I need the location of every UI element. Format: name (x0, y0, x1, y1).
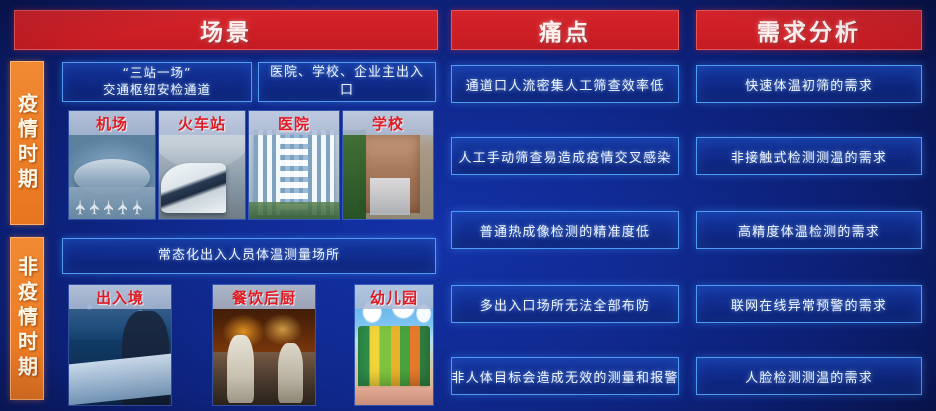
pain-point-item-5-label: 非人体目标会造成无效的测量和报警 (451, 367, 678, 386)
photo-railway-station: 火车站 (158, 110, 246, 220)
photo-school: 学校 (342, 110, 434, 220)
period-tab-non-epidemic: 非疫情时期 (10, 237, 44, 400)
pain-point-item-1: 通道口人流密集人工筛查效率低 (451, 65, 679, 103)
scene-box-main-entrance: 医院、学校、企业主出入口 (258, 62, 436, 102)
header-scene-label: 场景 (200, 13, 252, 47)
period-tab-epidemic: 疫情时期 (10, 61, 44, 225)
photo-kindergarten-caption: 幼儿园 (355, 285, 433, 309)
airplane-icon-group (72, 187, 151, 215)
scene-box-routine-temperature-label: 常态化出入人员体温测量场所 (152, 247, 346, 265)
pain-point-item-3: 普通热成像检测的精准度低 (451, 211, 679, 249)
demand-item-5: 人脸检测测温的需求 (696, 357, 922, 395)
photo-school-caption: 学校 (343, 111, 433, 135)
photo-strip-epidemic: 机场 火车站 医院 学校 (68, 110, 434, 220)
demand-item-3: 高精度体温检测的需求 (696, 211, 922, 249)
photo-railway-station-caption-label: 火车站 (178, 113, 226, 134)
demand-item-2-label: 非接触式检测测温的需求 (731, 147, 887, 166)
photo-kindergarten: 幼儿园 (354, 284, 434, 406)
photo-hospital: 医院 (248, 110, 340, 220)
chef-figure-left (227, 335, 254, 402)
photo-border-control: 出入境 (68, 284, 172, 406)
hospital-foliage (249, 202, 339, 219)
slide-canvas: 场景 痛点 需求分析 疫情时期 非疫情时期 “三站一场” 交通枢纽安检通道 医院… (0, 0, 936, 411)
demand-item-5-label: 人脸检测测温的需求 (745, 367, 873, 386)
pain-point-item-1-label: 通道口人流密集人工筛查效率低 (466, 75, 665, 94)
photo-school-caption-label: 学校 (372, 113, 404, 134)
demand-item-3-label: 高精度体温检测的需求 (738, 221, 880, 240)
photo-kitchen-caption-label: 餐饮后厨 (232, 287, 296, 308)
demand-item-1-label: 快速体温初筛的需求 (745, 75, 873, 94)
pain-point-item-4-label: 多出入口场所无法全部布防 (480, 295, 650, 314)
photo-kitchen: 餐饮后厨 (212, 284, 316, 406)
pain-point-item-2-label: 人工手动筛查易造成疫情交叉感染 (458, 147, 671, 166)
demand-item-1: 快速体温初筛的需求 (696, 65, 922, 103)
photo-border-control-caption-label: 出入境 (96, 287, 144, 308)
pain-point-item-2: 人工手动筛查易造成疫情交叉感染 (451, 137, 679, 175)
demand-item-4: 联网在线异常预警的需求 (696, 285, 922, 323)
header-pain-points-label: 痛点 (539, 13, 591, 47)
scene-box-transport-hub-line2: 交通枢纽安检通道 (97, 82, 217, 97)
photo-airport-caption: 机场 (69, 111, 155, 135)
scene-box-main-entrance-label: 医院、学校、企业主出入口 (259, 64, 435, 99)
photo-airport-caption-label: 机场 (96, 113, 128, 134)
scene-box-transport-hub: “三站一场” 交通枢纽安检通道 (62, 62, 252, 102)
photo-strip-non-epidemic: 出入境 餐饮后厨 幼儿园 (68, 284, 434, 406)
demand-item-4-label: 联网在线异常预警的需求 (731, 295, 887, 314)
scene-box-transport-hub-label: “三站一场” 交通枢纽安检通道 (91, 65, 223, 99)
header-demand-analysis: 需求分析 (696, 10, 922, 50)
school-gate (370, 178, 410, 215)
photo-hospital-caption: 医院 (249, 111, 339, 135)
border-counter (69, 354, 171, 406)
pain-point-item-3-label: 普通热成像检测的精准度低 (480, 221, 650, 240)
photo-railway-station-caption: 火车站 (159, 111, 245, 135)
chef-figure-right (278, 343, 302, 403)
kindergarten-ground (355, 386, 433, 405)
period-tab-non-epidemic-label: 非疫情时期 (13, 256, 42, 381)
scene-box-transport-hub-line1: “三站一场” (117, 65, 198, 80)
demand-item-2: 非接触式检测测温的需求 (696, 137, 922, 175)
header-scene: 场景 (14, 10, 438, 50)
pain-point-item-5: 非人体目标会造成无效的测量和报警 (451, 357, 679, 395)
photo-airport: 机场 (68, 110, 156, 220)
header-demand-analysis-label: 需求分析 (757, 13, 861, 47)
kindergarten-building (358, 326, 430, 388)
header-pain-points: 痛点 (451, 10, 679, 50)
photo-border-control-caption: 出入境 (69, 285, 171, 309)
photo-kindergarten-caption-label: 幼儿园 (370, 287, 418, 308)
photo-hospital-caption-label: 医院 (278, 113, 310, 134)
scene-box-routine-temperature: 常态化出入人员体温测量场所 (62, 238, 436, 274)
photo-kitchen-caption: 餐饮后厨 (213, 285, 315, 309)
period-tab-epidemic-label: 疫情时期 (13, 93, 42, 193)
pain-point-item-4: 多出入口场所无法全部布防 (451, 285, 679, 323)
